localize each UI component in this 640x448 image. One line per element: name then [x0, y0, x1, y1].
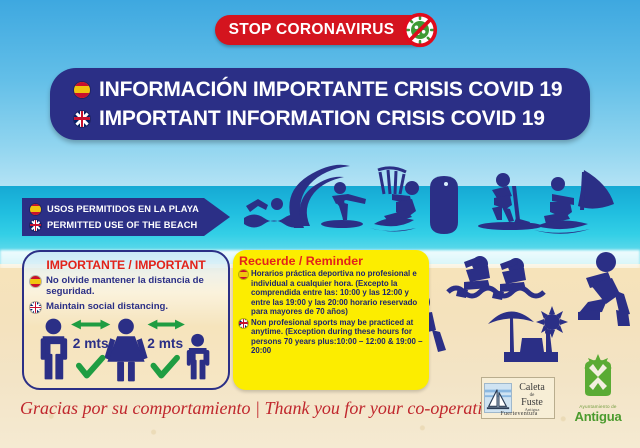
flag-spain-icon: [74, 82, 90, 98]
flag-uk-icon: [239, 319, 248, 328]
paddleboard-icon: [478, 173, 542, 230]
child-figure-icon: [187, 334, 210, 380]
reminder-text-en: Non profesional sports may be practiced …: [251, 318, 424, 356]
antigua-windmill-crest-icon: [577, 352, 619, 398]
title-text-en: IMPORTANT INFORMATION CRISIS COVID 19: [99, 107, 545, 131]
important-card-title: IMPORTANTE / IMPORTANT: [24, 258, 228, 272]
kitesurfer-icon: [370, 168, 419, 232]
distance-label-right: 2 mts: [147, 336, 183, 351]
important-line-es: No olvide mantener la distancia de segur…: [30, 275, 228, 298]
title-text-es: INFORMACIÓN IMPORTANTE CRISIS COVID 19: [99, 78, 562, 102]
title-line-es: INFORMACIÓN IMPORTANTE CRISIS COVID 19: [74, 75, 590, 104]
stop-coronavirus-label: STOP CORONAVIRUS: [229, 21, 417, 39]
surfer-icon: [289, 165, 366, 228]
social-distance-diagram: 2 mts 2 mts: [24, 314, 228, 386]
flag-spain-icon: [30, 276, 41, 287]
running-figure-icon: [578, 252, 630, 326]
flag-spain-icon: [30, 204, 41, 215]
beach-use-banner: USOS PERMITIDOS EN LA PLAYA PERMITTED US…: [22, 198, 230, 236]
banner-text-en: PERMITTED USE OF THE BEACH: [47, 220, 197, 230]
distance-arrow-left: [71, 320, 110, 330]
important-text-en: Maintain social distancing.: [46, 301, 168, 313]
reminder-line-en: Non profesional sports may be practiced …: [239, 318, 424, 356]
main-title-panel: INFORMACIÓN IMPORTANTE CRISIS COVID 19 I…: [50, 68, 590, 140]
important-text-es: No olvide mantener la distancia de segur…: [46, 275, 228, 298]
virus-stop-icon: [402, 12, 438, 48]
caleta-de-fuste-logo: Caleta de Fuste Antigua Fuerteventura: [481, 377, 555, 419]
important-line-en: Maintain social distancing.: [30, 301, 228, 313]
banner-line-en: PERMITTED USE OF THE BEACH: [30, 217, 230, 233]
windsurfer-icon: [534, 170, 614, 234]
activity-icons-top: [244, 162, 636, 240]
distance-label-left: 2 mts: [73, 336, 109, 351]
caleta-line5: Fuerteventura: [484, 411, 554, 417]
reminder-line-es: Horarios práctica deportiva no profesion…: [239, 269, 424, 317]
check-icon: [79, 358, 103, 376]
check-icon: [153, 358, 177, 376]
flag-uk-icon: [30, 220, 41, 231]
banner-line-es: USOS PERMITIDOS EN LA PLAYA: [30, 201, 230, 217]
stop-coronavirus-banner: STOP CORONAVIRUS: [215, 15, 430, 45]
antigua-name: Antigua: [566, 409, 630, 424]
flag-spain-icon: [239, 270, 248, 279]
important-card: IMPORTANTE / IMPORTANT No olvide mantene…: [22, 250, 230, 390]
thank-you-message: Gracias por su comportamiento | Thank yo…: [20, 398, 470, 419]
bodyboard-icon: [430, 176, 458, 234]
flag-uk-icon: [30, 302, 41, 313]
banner-text-es: USOS PERMITIDOS EN LA PLAYA: [47, 204, 199, 214]
reminder-text-es: Horarios práctica deportiva no profesion…: [251, 269, 424, 317]
sailboat-emblem-icon: [484, 383, 512, 413]
distance-arrow-right: [148, 320, 185, 330]
sun-icon: [536, 306, 568, 338]
title-line-en: IMPORTANT INFORMATION CRISIS COVID 19: [74, 104, 590, 133]
man-figure-icon: [41, 319, 67, 380]
reminder-card: Recuerde / Reminder Horarios práctica de…: [233, 250, 429, 390]
flag-uk-icon: [74, 111, 90, 127]
caleta-line1: Caleta: [512, 383, 552, 393]
woman-figure-icon: [104, 319, 147, 382]
poster-canvas: STOP CORONAVIRUS: [0, 0, 640, 448]
antigua-council-logo: Ayuntamiento de Antigua: [566, 352, 630, 420]
reminder-card-title: Recuerde / Reminder: [239, 254, 424, 268]
walking-figure-icon: [428, 293, 446, 352]
